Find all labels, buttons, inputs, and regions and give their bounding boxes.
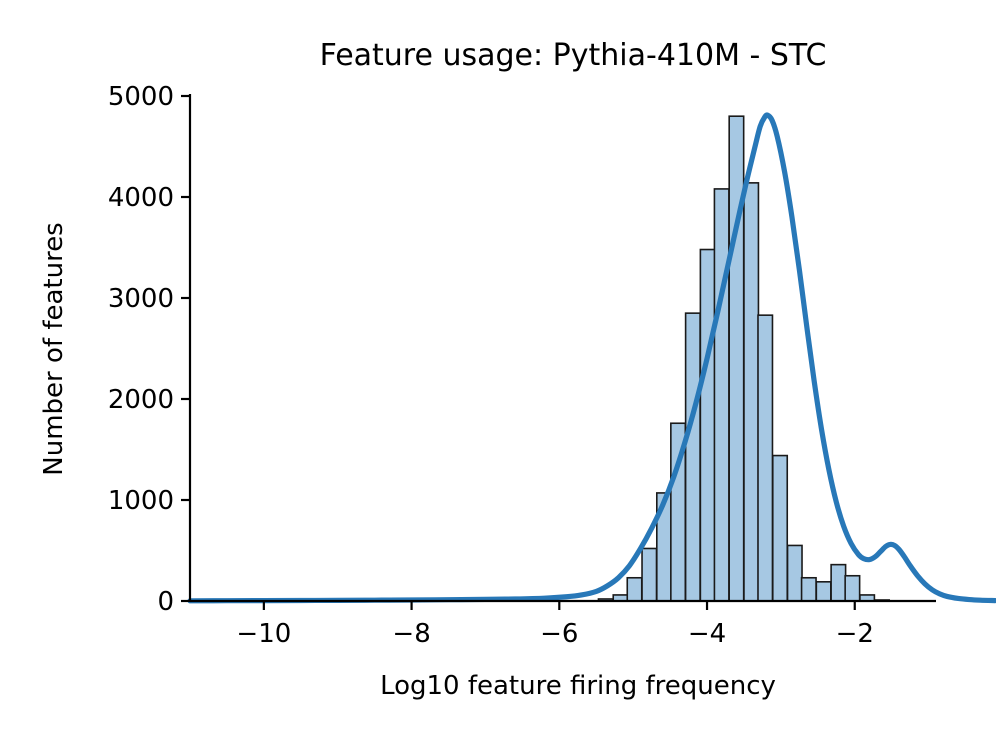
y-axis-ticks: 010002000300040005000 — [108, 82, 190, 617]
x-tick-label: −4 — [688, 619, 726, 649]
histogram-bar — [686, 313, 700, 601]
x-tick-label: −2 — [836, 619, 874, 649]
histogram-bar — [773, 456, 787, 601]
histogram-bar — [788, 545, 802, 601]
x-tick-label: −8 — [392, 619, 430, 649]
histogram-bar — [714, 189, 728, 601]
y-tick-label: 5000 — [108, 82, 174, 112]
chart-figure: Feature usage: Pythia-410M - STC Number … — [0, 0, 996, 747]
histogram-plot: Feature usage: Pythia-410M - STC Number … — [0, 0, 996, 747]
histogram-bar — [802, 578, 816, 601]
y-tick-label: 3000 — [108, 284, 174, 314]
histogram-bar — [816, 582, 830, 601]
x-axis-ticks: −10−8−6−4−2 — [236, 601, 873, 649]
kde-curve — [190, 115, 995, 601]
histogram-bar — [758, 315, 772, 601]
x-tick-label: −6 — [540, 619, 578, 649]
histogram-bar — [744, 183, 758, 601]
y-axis-label: Number of features — [39, 222, 69, 475]
histogram-bar — [627, 578, 641, 601]
y-tick-label: 2000 — [108, 385, 174, 415]
histogram-bar — [845, 576, 859, 601]
y-tick-label: 0 — [157, 587, 174, 617]
y-tick-label: 1000 — [108, 486, 174, 516]
histogram-bar — [700, 250, 714, 601]
histogram-bar — [729, 116, 743, 601]
histogram-bar — [642, 548, 656, 601]
x-tick-label: −10 — [236, 619, 291, 649]
histogram-bar — [831, 565, 845, 601]
x-axis-label: Log10 feature firing frequency — [380, 671, 776, 701]
y-tick-label: 4000 — [108, 183, 174, 213]
axes — [190, 94, 936, 601]
chart-title: Feature usage: Pythia-410M - STC — [320, 38, 827, 73]
